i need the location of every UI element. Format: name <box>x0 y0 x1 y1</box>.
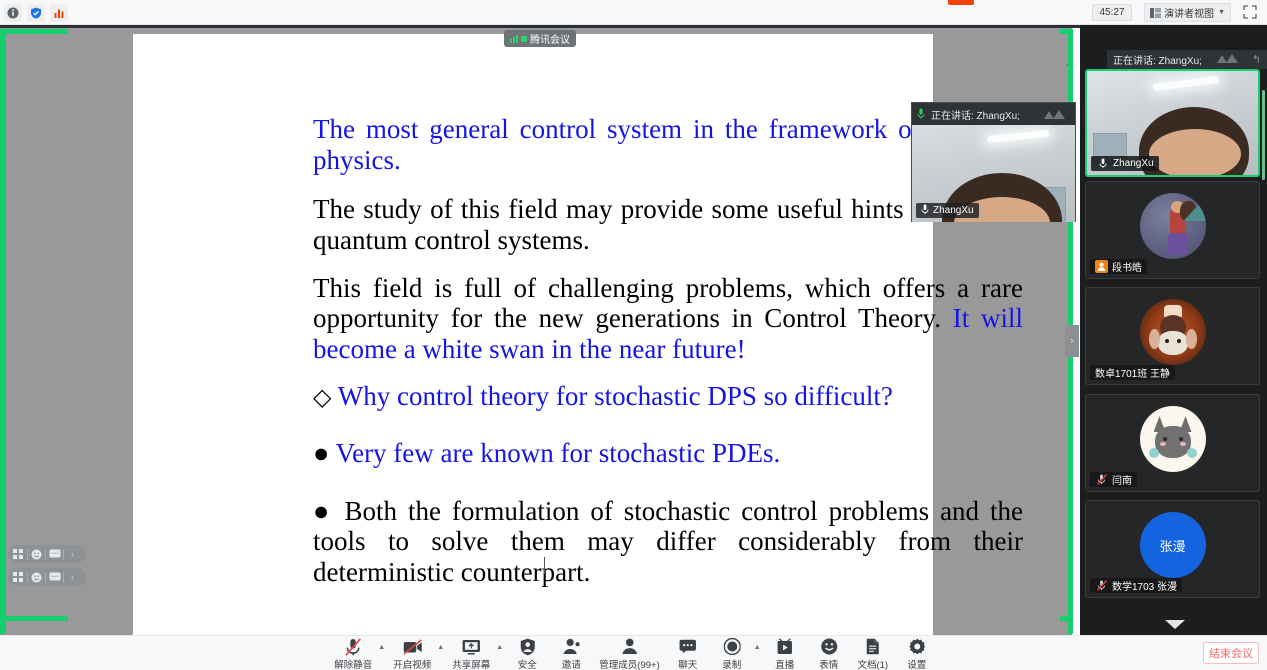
signal-icon <box>510 35 518 43</box>
fullscreen-icon[interactable] <box>1243 5 1259 21</box>
floating-video-feed: ZhangXu <box>912 125 1075 222</box>
shield-person-icon <box>519 637 535 656</box>
grey-cat-avatar <box>1140 406 1206 472</box>
share-border-bottom-right <box>1060 616 1073 621</box>
grid-icon[interactable] <box>10 545 27 563</box>
mic-off-icon <box>1095 579 1108 592</box>
mic-on-icon <box>921 204 929 218</box>
mic-icon <box>917 108 926 120</box>
gear-icon <box>908 637 925 656</box>
toolbar-security-button[interactable]: 安全 <box>505 637 549 670</box>
slide-paragraph-2: This field is full of challenging proble… <box>313 273 1023 365</box>
participant-name-badge: 闫南 <box>1090 472 1137 487</box>
toolbar-settings-button[interactable]: 设置 <box>895 637 939 670</box>
participant-tile[interactable]: 数卓1701班 王静 <box>1085 287 1260 385</box>
speaking-waves-icon <box>1217 53 1243 67</box>
top-icon-group <box>4 4 68 22</box>
slide-bullet-2: ● Both the formulation of stochastic con… <box>313 496 1023 588</box>
meeting-window: 45:27 演讲者视图 ▼ The most general control s… <box>0 0 1267 670</box>
chat-icon[interactable] <box>46 545 63 563</box>
floating-toolbar-2[interactable]: ‹ <box>8 568 86 586</box>
tencent-meeting-label: 腾讯会议 <box>530 31 570 46</box>
share-options-chevron-icon[interactable]: ▲ <box>496 644 505 651</box>
toolbar-live-button[interactable]: 直播 <box>763 637 807 670</box>
floating-video-name: ZhangXu <box>933 205 974 216</box>
collapse-chevron-icon[interactable]: ‹ <box>64 545 81 563</box>
floating-video-speaking-label: 正在讲话: ZhangXu; <box>931 107 1020 122</box>
video-off-icon <box>402 637 422 656</box>
share-border-bottom-left <box>0 616 68 621</box>
view-mode-label: 演讲者视图 <box>1164 5 1214 20</box>
chat-icon[interactable] <box>46 568 63 586</box>
avatar-initials: 张漫 <box>1159 536 1185 555</box>
slide-bullet-1: ● Very few are known for stochastic PDEs… <box>313 438 1023 469</box>
share-screen-icon <box>462 637 481 656</box>
toolbar-label: 共享屏幕 <box>452 657 490 670</box>
rail-scroll-down-icon[interactable] <box>1165 620 1185 629</box>
slide-p2-black: This field is full of challenging proble… <box>313 273 1023 334</box>
emoji-icon[interactable] <box>28 545 45 563</box>
toolbar-label: 解除静音 <box>334 657 372 670</box>
video-options-chevron-icon[interactable]: ▲ <box>437 644 446 651</box>
bullet-icon: ● <box>313 496 334 526</box>
person-icon <box>1095 260 1108 273</box>
participant-tile[interactable]: 段书皓 <box>1085 181 1260 279</box>
layout-icon <box>1150 8 1160 18</box>
toolbar-members-button[interactable]: 管理成员(99+) <box>593 637 665 670</box>
top-strip: 45:27 演讲者视图 ▼ <box>0 0 1267 25</box>
participant-avatar-area: 段书皓 <box>1086 182 1259 278</box>
chat-bubble-icon <box>679 637 697 656</box>
toolbar-emoji-button[interactable]: 表情 <box>807 637 851 670</box>
chevron-down-icon: ▼ <box>1218 9 1225 16</box>
view-mode-select[interactable]: 演讲者视图 ▼ <box>1144 3 1231 22</box>
slide-question: ◇ Why control theory for stochastic DPS … <box>313 381 1023 412</box>
share-border-top <box>0 29 68 34</box>
cat-art-avatar <box>1140 299 1206 365</box>
toolbar-label: 开启视频 <box>393 657 431 670</box>
meeting-timer: 45:27 <box>1092 4 1132 21</box>
participant-name-badge: 数学1703 张漫 <box>1090 578 1182 593</box>
record-icon <box>723 637 740 656</box>
stats-icon[interactable] <box>50 4 68 22</box>
bottom-toolbar: 解除静音 ▲ 开启视频 ▲ 共享屏幕 ▲ 安全 <box>0 635 1267 670</box>
toolbar-video-button[interactable]: 开启视频 <box>387 637 437 670</box>
tencent-meeting-badge: 腾讯会议 <box>504 30 576 47</box>
ceiling-lamp <box>1153 76 1219 91</box>
slide-question-text: Why control theory for stochastic DPS so… <box>338 381 893 411</box>
record-options-chevron-icon[interactable]: ▲ <box>754 644 763 651</box>
shield-icon[interactable] <box>27 4 45 22</box>
toolbar-record-button[interactable]: 录制 <box>710 637 754 670</box>
share-border-right-top <box>1060 29 1073 34</box>
toolbar-label: 安全 <box>518 657 537 670</box>
participant-avatar-area: 张漫 数学1703 张漫 <box>1086 501 1259 597</box>
participant-name-badge: 段书皓 <box>1090 259 1147 274</box>
emoji-icon <box>820 637 837 656</box>
participant-name: 数学1703 张漫 <box>1112 578 1177 593</box>
ceiling-lamp <box>987 130 1049 143</box>
toolbar-label: 管理成员(99+) <box>599 657 659 670</box>
participant-name: ZhangXu <box>1113 158 1154 169</box>
floating-toolbar-1[interactable]: ‹ <box>8 545 86 563</box>
participant-name: 段书皓 <box>1112 259 1142 274</box>
floating-video-header: 正在讲话: ZhangXu; <box>912 103 1075 125</box>
participant-name-badge: 数卓1701班 王静 <box>1090 365 1175 380</box>
toolbar-label: 直播 <box>775 657 794 670</box>
slide-bullet-1-text: Very few are known for stochastic PDEs. <box>336 438 781 468</box>
girl-avatar <box>1140 193 1206 259</box>
diamond-bullet-icon: ◇ <box>313 383 331 411</box>
rail-speaking-header: 正在讲话: ZhangXu; ↰ <box>1107 50 1267 69</box>
mic-options-chevron-icon[interactable]: ▲ <box>378 644 387 651</box>
speaking-waves-icon <box>1044 109 1070 120</box>
rail-scrollbar[interactable] <box>1262 90 1265 180</box>
toolbar-document-button[interactable]: 文档(1) <box>851 637 895 670</box>
members-icon <box>621 637 639 656</box>
participant-name-badge: ZhangXu <box>1091 156 1159 171</box>
back-arrow-icon[interactable]: ↰ <box>1252 53 1261 66</box>
toolbar-label: 录制 <box>722 657 741 670</box>
floating-video-thumbnail[interactable]: 正在讲话: ZhangXu; ZhangXu <box>911 102 1076 222</box>
toolbar-label: 文档(1) <box>857 657 888 670</box>
participant-avatar-area: 闫南 <box>1086 395 1259 491</box>
participant-avatar-area: 数卓1701班 王静 <box>1086 288 1259 384</box>
toolbar-label: 邀请 <box>562 657 581 670</box>
mic-on-icon <box>1096 157 1109 170</box>
end-meeting-button[interactable]: 结束会议 <box>1203 642 1259 664</box>
floating-video-name-badge: ZhangXu <box>916 203 979 218</box>
mic-off-icon <box>345 637 362 656</box>
text-caret <box>544 557 545 574</box>
participant-video: ZhangXu <box>1087 71 1258 175</box>
emoji-icon[interactable] <box>28 568 45 586</box>
participant-forehead <box>1149 129 1241 177</box>
toolbar-label: 聊天 <box>678 657 697 670</box>
rail-speaking-label: 正在讲话: ZhangXu; <box>1113 52 1202 67</box>
slide-bullet-2-text: Both the formulation of stochastic contr… <box>313 496 1023 587</box>
participant-name: 数卓1701班 王静 <box>1095 365 1170 380</box>
slide-page: The most general control system in the f… <box>133 34 933 635</box>
invite-person-icon <box>562 637 580 656</box>
share-border-left <box>0 29 6 634</box>
orange-accent-tab <box>948 0 974 5</box>
mic-off-icon <box>1095 473 1108 486</box>
recording-dot-icon <box>521 36 527 42</box>
participant-tile[interactable]: ZhangXu <box>1085 69 1260 177</box>
initials-avatar: 张漫 <box>1140 512 1206 578</box>
document-icon <box>866 637 880 656</box>
info-icon[interactable] <box>4 4 22 22</box>
shared-panel-collapse-button[interactable]: › <box>1065 325 1079 357</box>
participant-tile[interactable]: 闫南 <box>1085 394 1260 492</box>
participant-name: 闫南 <box>1112 472 1132 487</box>
bullet-icon: ● <box>313 438 329 468</box>
toolbar-chat-button[interactable]: 聊天 <box>666 637 710 670</box>
toolbar-share-screen-button[interactable]: 共享屏幕 <box>446 637 496 670</box>
toolbar-label: 设置 <box>907 657 926 670</box>
toolbar-unmute-button[interactable]: 解除静音 <box>328 637 378 670</box>
toolbar-invite-button[interactable]: 邀请 <box>549 637 593 670</box>
grid-icon[interactable] <box>10 568 27 586</box>
toolbar-label: 表情 <box>819 657 838 670</box>
live-icon <box>777 637 793 656</box>
participant-tile[interactable]: 张漫 数学1703 张漫 <box>1085 500 1260 598</box>
toolbar-items: 解除静音 ▲ 开启视频 ▲ 共享屏幕 ▲ 安全 <box>328 637 939 670</box>
collapse-chevron-icon[interactable]: ‹ <box>64 568 81 586</box>
